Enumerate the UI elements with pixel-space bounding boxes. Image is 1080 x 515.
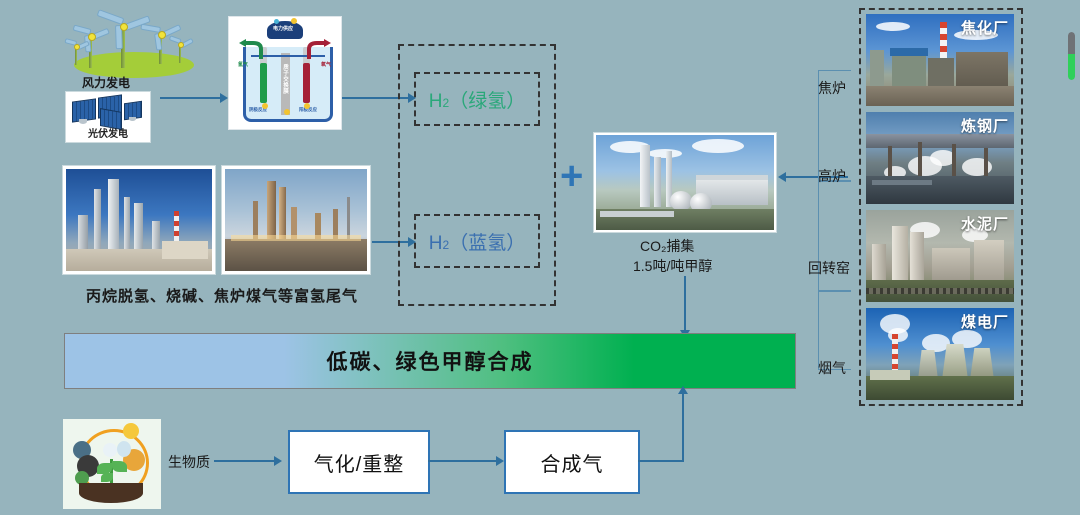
syngas-box: 合成气 [504,430,640,494]
refinery-photo-1 [63,166,215,274]
plant-name-coalpower: 煤电厂 [961,311,1009,332]
wind-power-label: 风力发电 [82,74,130,91]
plant-photo-steel: 炼钢厂 [866,112,1014,204]
solar-power-card: 光伏发电 [66,92,150,142]
blue-hydrogen-box: H2（蓝氢） [414,214,540,268]
biomass-illustration [63,419,161,509]
blue-hydrogen-name: （蓝氢） [449,233,525,254]
plus-sign: + [560,156,583,196]
arrow-head [778,172,786,182]
vertical-scrollbar[interactable] [1068,32,1075,80]
solar-power-label: 光伏发电 [66,125,150,140]
co2-capture-title: CO₂捕集 [640,236,694,256]
plant-name-steel: 炼钢厂 [961,115,1009,136]
plant-photo-coalpower: 煤电厂 [866,308,1014,400]
gasification-label: 气化/重整 [314,448,405,477]
co2-capture-photo [594,133,776,232]
process-label-flue-gas: 烟气 [818,358,846,378]
offgas-caption: 丙烷脱氢、烧碱、焦炉煤气等富氢尾气 [86,285,358,306]
connector-line [428,460,500,462]
scrollbar-progress[interactable] [1068,54,1075,80]
electrolyzer-diagram: 氢气 氧气 质子交换膜 阴极反应 阳极反应 电力供应 [228,16,342,130]
wind-farm-illustration [68,12,200,82]
connector-line [684,276,686,332]
connector-line [214,460,276,462]
process-label-rotary-kiln: 回转窑 [808,258,850,278]
blue-hydrogen-formula: H [429,233,443,254]
gasification-box: 气化/重整 [288,430,430,494]
connector-line [160,97,222,99]
green-hydrogen-formula: H [429,91,443,112]
connector-line [682,392,684,462]
arrow-head [496,456,504,466]
plant-name-coking: 焦化厂 [961,17,1009,38]
hydrogen-gas-label: 氢气 [238,61,248,68]
green-hydrogen-box: H2（绿氢） [414,72,540,126]
co2-capture-ratio: 1.5吨/吨甲醇 [633,256,712,276]
plant-photo-cement: 水泥厂 [866,210,1014,302]
power-supply-label: 电力供应 [273,25,293,32]
refinery-photo-2 [222,166,370,274]
biomass-label: 生物质 [168,452,210,472]
banner-text: 低碳、绿色甲醇合成 [327,346,534,376]
green-hydrogen-name: （绿氢） [449,91,525,112]
oxygen-gas-label: 氧气 [321,61,331,68]
plant-photo-coking: 焦化厂 [866,14,1014,106]
diagram-canvas: 风力发电 光伏发电 氢气 氧气 质子交换膜 阴极反应 [0,0,1080,515]
membrane-label: 质子交换膜 [281,65,291,95]
cathode-rod [260,63,267,103]
scrollbar-thumb[interactable] [1068,32,1075,54]
arrow-head [678,386,688,394]
process-label-coke-oven: 焦炉 [818,78,846,98]
connector-line [638,460,684,462]
methanol-synthesis-banner: 低碳、绿色甲醇合成 [64,333,796,389]
arrow-head [220,93,228,103]
anode-rod [303,63,310,103]
plant-name-cement: 水泥厂 [961,213,1009,234]
process-label-blast-furnace: 高炉 [818,166,846,186]
syngas-label: 合成气 [541,448,604,477]
arrow-head [274,456,282,466]
